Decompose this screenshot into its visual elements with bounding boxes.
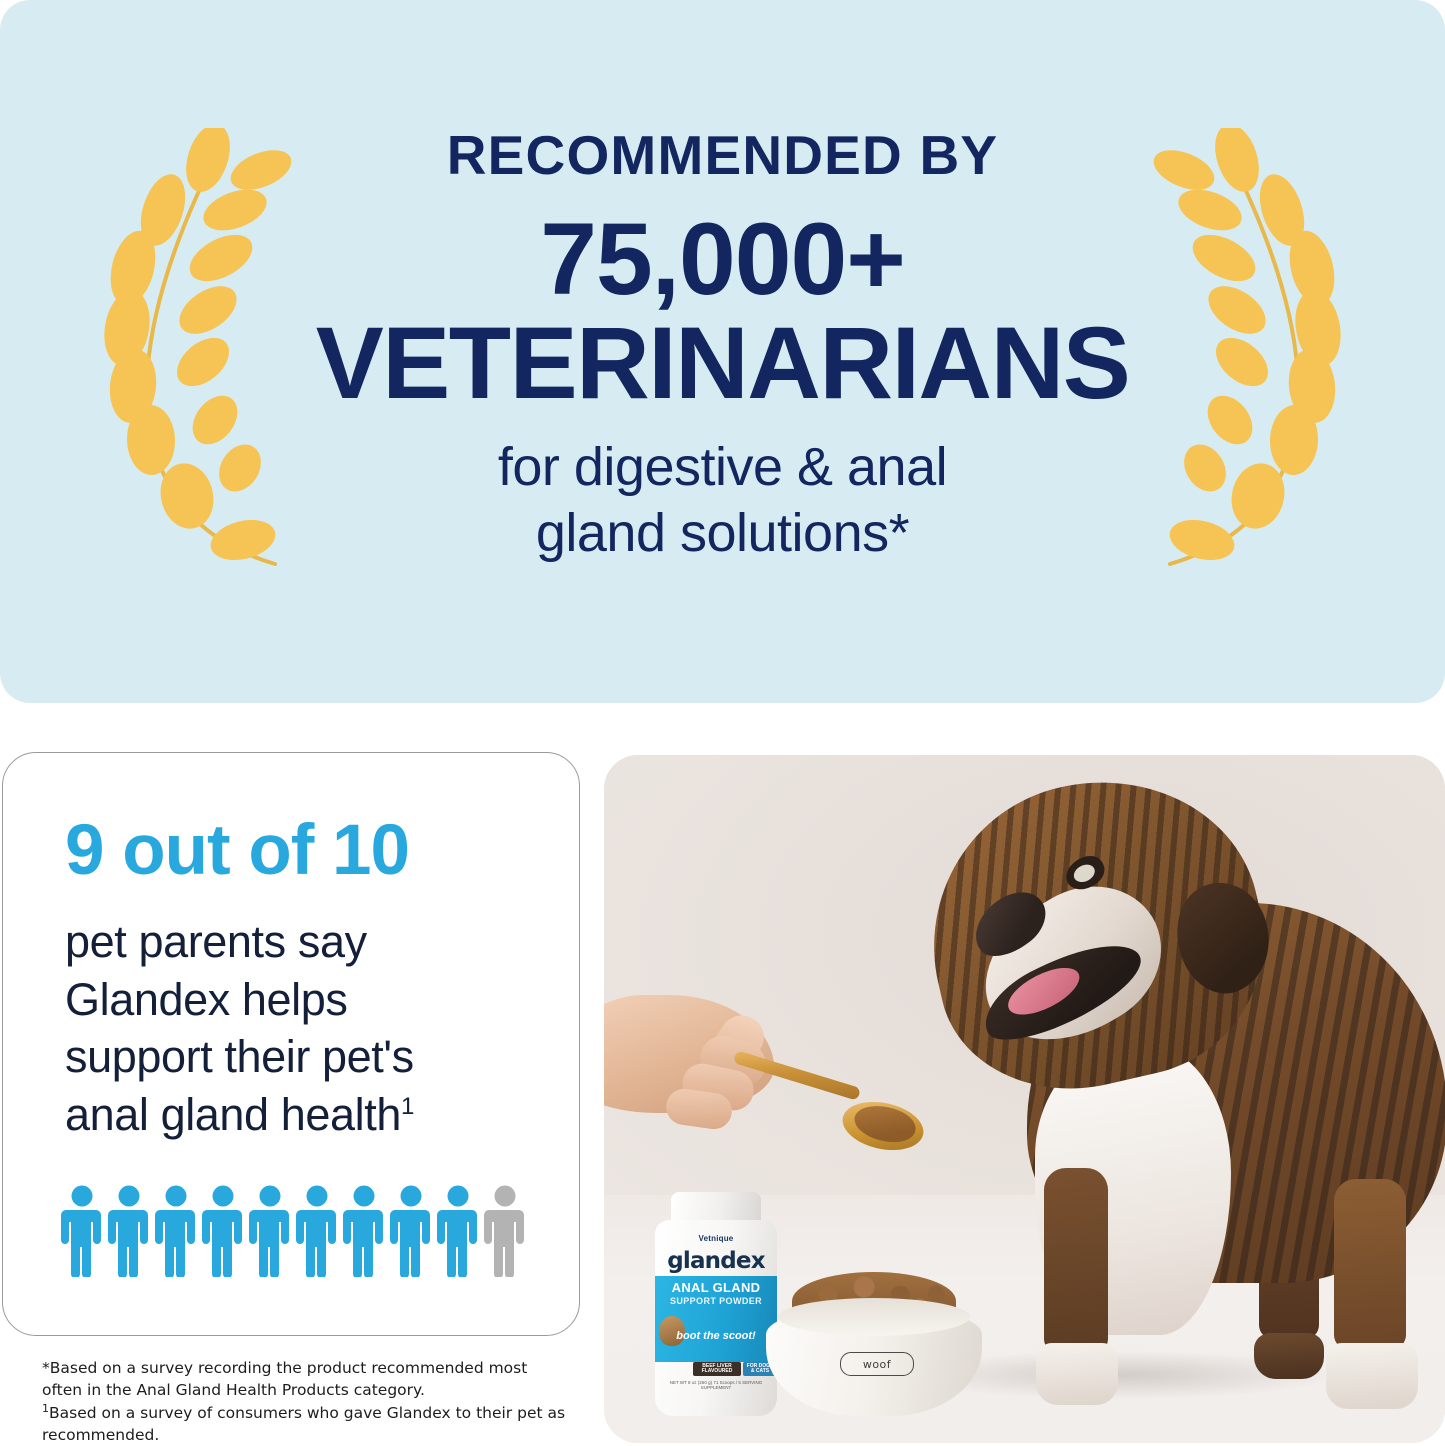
banner-subtitle-line2: gland solutions* — [536, 503, 909, 563]
footnotes-block: *Based on a survey recording the product… — [42, 1357, 572, 1446]
dog-back-right-leg — [1334, 1179, 1406, 1349]
pet-parents-stat-card: 9 out of 10 pet parents say Glandex help… — [2, 752, 580, 1336]
veterinarians-label: VETERINARIANS — [300, 311, 1145, 415]
person-icon-highlighted — [296, 1185, 338, 1277]
person-icon-highlighted — [437, 1185, 479, 1277]
banner-subtitle: for digestive & anal gland solutions* — [300, 435, 1145, 567]
person-icon-muted — [484, 1185, 526, 1277]
stat-body-line4: anal gland health — [65, 1089, 401, 1140]
dog-back-right-paw — [1326, 1343, 1418, 1409]
footnote-2: Based on a survey of consumers who gave … — [42, 1404, 565, 1444]
stat-body-line2: Glandex helps — [65, 974, 348, 1025]
person-icon-highlighted — [108, 1185, 150, 1277]
banner-text-block: RECOMMENDED BY 75,000+ VETERINARIANS for… — [300, 128, 1145, 567]
recommended-by-label: RECOMMENDED BY — [300, 128, 1145, 183]
person-icon-highlighted — [202, 1185, 244, 1277]
stat-headline: 9 out of 10 — [65, 815, 409, 886]
person-icon-highlighted — [155, 1185, 197, 1277]
dog-back-left-paw — [1254, 1333, 1324, 1379]
bowl-rim — [778, 1298, 970, 1336]
stat-footnote-marker: 1 — [401, 1093, 414, 1120]
dog-front-paw — [1036, 1343, 1118, 1405]
stat-body-line3: support their pet's — [65, 1031, 414, 1082]
person-icon-highlighted — [61, 1185, 103, 1277]
bottle-brand-name: Vetnique — [655, 1234, 777, 1243]
hand-with-spoon — [604, 995, 824, 1155]
veterinarian-count: 75,000+ — [300, 207, 1145, 311]
footnote-1: *Based on a survey recording the product… — [42, 1357, 572, 1401]
stat-body-text: pet parents say Glandex helps support th… — [65, 913, 555, 1143]
bottle-line1: ANAL GLAND — [655, 1280, 777, 1295]
dog-front-leg — [1044, 1168, 1108, 1353]
bottle-flavour-badge: BEEF LIVER FLAVOURED — [693, 1362, 741, 1376]
bottle-line2: SUPPORT POWDER — [655, 1296, 777, 1306]
bottle-product-name: glandex — [655, 1248, 777, 1274]
bowl-bone-engraving: woof — [840, 1352, 914, 1376]
recommended-by-banner: RECOMMENDED BY 75,000+ VETERINARIANS for… — [0, 0, 1445, 703]
footnote-2-marker: 1 — [42, 1402, 49, 1415]
laurel-wreath-right-icon — [1130, 128, 1370, 568]
person-icon-highlighted — [249, 1185, 291, 1277]
person-icon-highlighted — [390, 1185, 432, 1277]
glandex-product-bottle: Vetnique glandex ANAL GLAND SUPPORT POWD… — [651, 1192, 781, 1416]
product-lifestyle-photo: Vetnique glandex ANAL GLAND SUPPORT POWD… — [604, 755, 1445, 1443]
bottle-tagline: boot the scoot! — [655, 1330, 777, 1342]
bottle-label: Vetnique glandex ANAL GLAND SUPPORT POWD… — [655, 1220, 777, 1416]
laurel-wreath-left-icon — [75, 128, 315, 568]
dog-food-bowl: woof — [766, 1272, 982, 1420]
footnote-2-wrapper: 1Based on a survey of consumers who gave… — [42, 1401, 572, 1446]
people-pictogram-row — [61, 1185, 526, 1277]
banner-subtitle-line1: for digestive & anal — [498, 437, 947, 497]
person-icon-highlighted — [343, 1185, 385, 1277]
stat-body-line1: pet parents say — [65, 916, 367, 967]
bottle-fine-print: NET WT 8 oz (250 g) 71 Scoops / 5 SERVIN… — [655, 1380, 777, 1390]
